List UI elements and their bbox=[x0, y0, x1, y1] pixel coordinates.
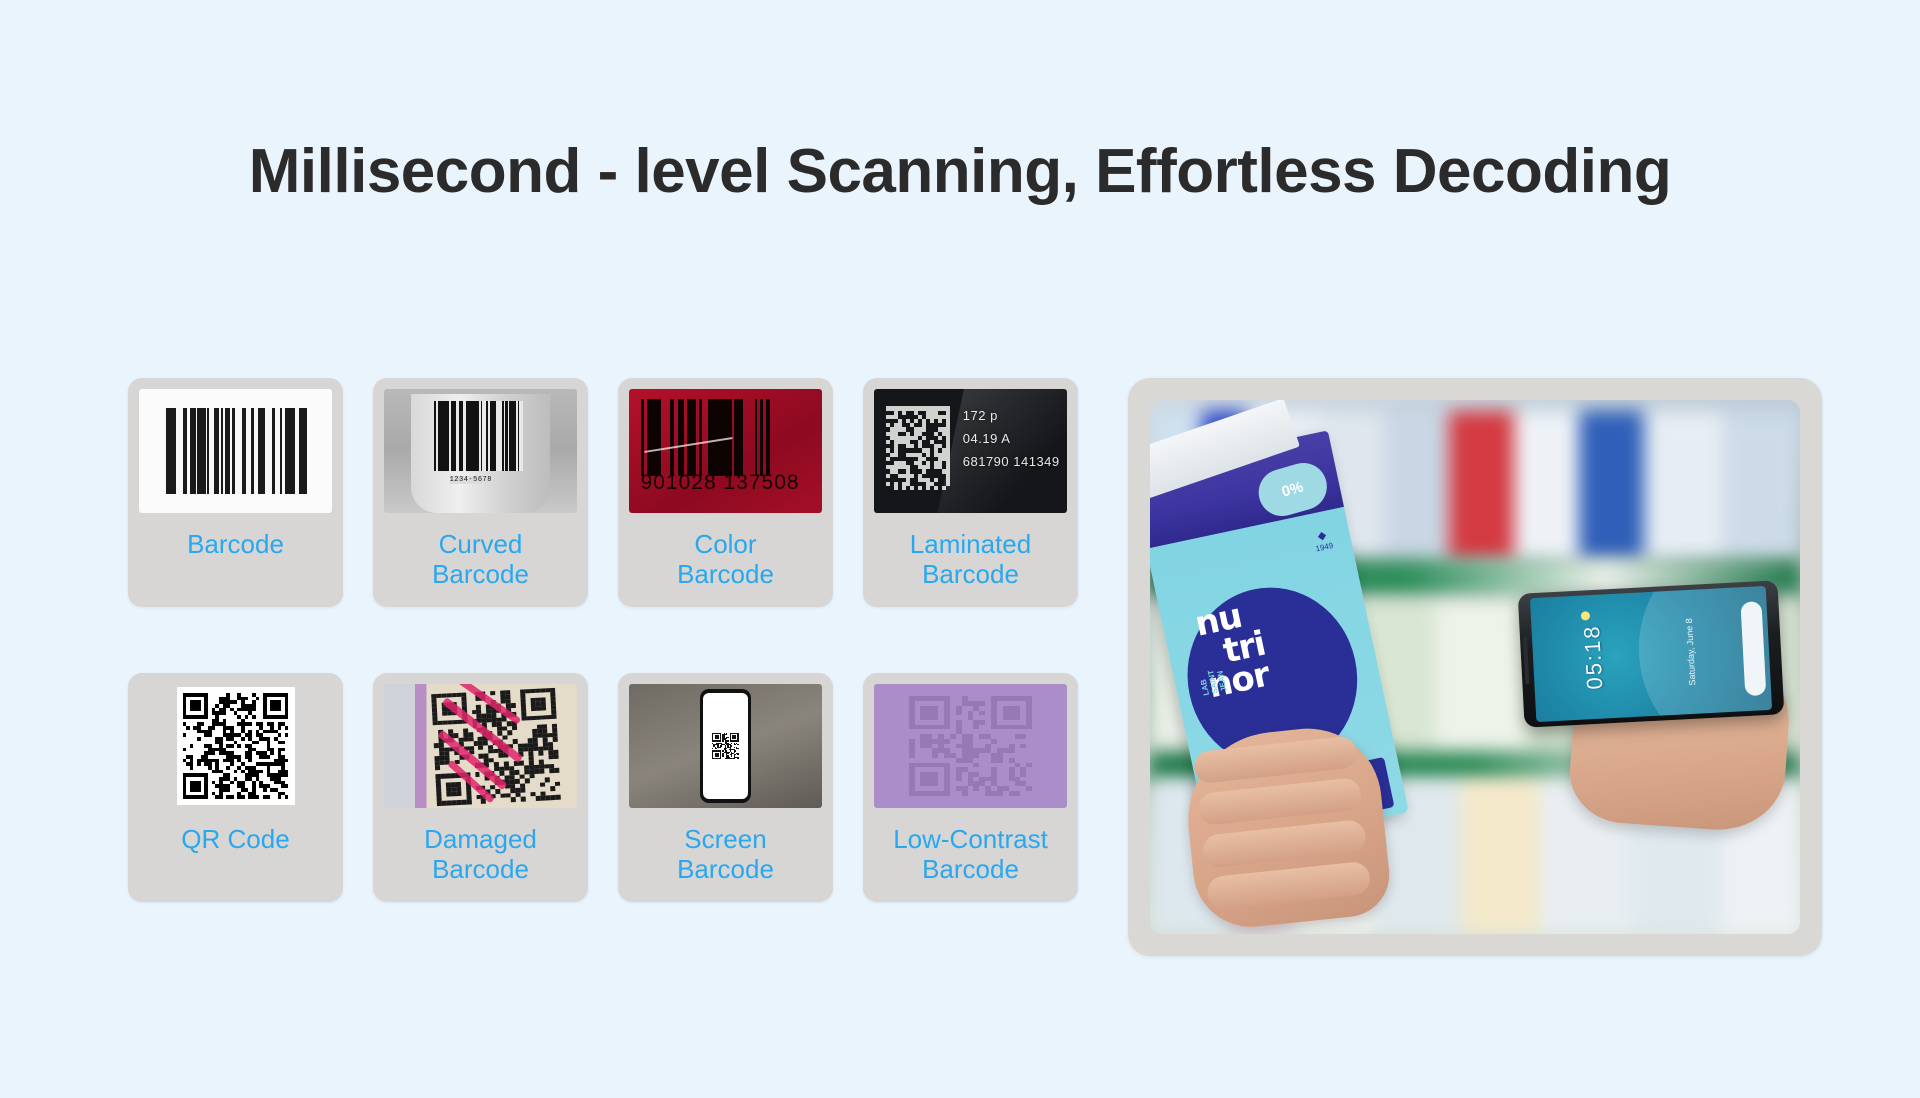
curved-barcode-number: 1234-5678 bbox=[450, 476, 492, 484]
damaged-qr-icon bbox=[384, 684, 577, 808]
color-barcode-number: 901028 137508 bbox=[641, 471, 815, 495]
phone-clock: 05:18 bbox=[1579, 623, 1608, 689]
card-curved-barcode[interactable]: 1234-5678 Curved Barcode bbox=[373, 378, 588, 607]
grid-row-1: Barcode 1234-5678 Curved Barcode 901028 … bbox=[128, 378, 1088, 607]
barcode-icon bbox=[139, 389, 332, 513]
card-qr-code[interactable]: QR Code bbox=[128, 673, 343, 902]
phone-search-bar bbox=[1740, 601, 1766, 696]
scanning-phone: 05:18 Saturday, June 8 bbox=[1517, 580, 1784, 727]
qr-code-icon bbox=[139, 684, 332, 808]
card-label: Color Barcode bbox=[673, 513, 778, 607]
card-barcode[interactable]: Barcode bbox=[128, 378, 343, 607]
card-label: Barcode bbox=[183, 513, 288, 605]
slide-root: Millisecond - level Scanning, Effortless… bbox=[0, 0, 1920, 1098]
card-label: Curved Barcode bbox=[428, 513, 533, 607]
scanning-demo-panel: 0% nu tri nor LAB SAINT JEAN ◆1949 DIQUE bbox=[1128, 378, 1822, 956]
card-label: QR Code bbox=[177, 808, 293, 900]
card-screen-barcode[interactable]: Screen Barcode bbox=[618, 673, 833, 902]
fleur-de-lis-icon: ◆1949 bbox=[1312, 529, 1334, 554]
curved-barcode-icon: 1234-5678 bbox=[384, 389, 577, 513]
barcode-type-grid: Barcode 1234-5678 Curved Barcode 901028 … bbox=[128, 378, 1088, 902]
card-low-contrast-barcode[interactable]: Low-Contrast Barcode bbox=[863, 673, 1078, 902]
card-color-barcode[interactable]: 901028 137508 Color Barcode bbox=[618, 378, 833, 607]
card-laminated-barcode[interactable]: 172 p 04.19 A 681790 141349 Laminated Ba… bbox=[863, 378, 1078, 607]
card-label: Damaged Barcode bbox=[420, 808, 541, 902]
left-hand bbox=[1179, 721, 1393, 933]
phone-screen-qr-icon bbox=[629, 684, 822, 808]
page-title: Millisecond - level Scanning, Effortless… bbox=[0, 136, 1920, 207]
phone-speaker bbox=[1522, 636, 1529, 684]
scanning-demo-photo: 0% nu tri nor LAB SAINT JEAN ◆1949 DIQUE bbox=[1150, 400, 1800, 934]
card-damaged-barcode[interactable]: Damaged Barcode bbox=[373, 673, 588, 902]
card-label: Screen Barcode bbox=[673, 808, 778, 902]
phone-screen: 05:18 Saturday, June 8 bbox=[1529, 586, 1771, 722]
color-barcode-icon: 901028 137508 bbox=[629, 389, 822, 513]
carton-sub-text: LAB SAINT JEAN bbox=[1197, 667, 1228, 696]
status-dot-icon bbox=[1580, 611, 1589, 620]
grid-row-2: QR Code Damaged Barcode Scre bbox=[128, 673, 1088, 902]
low-contrast-qr-icon bbox=[874, 684, 1067, 808]
laminated-barcode-icon: 172 p 04.19 A 681790 141349 bbox=[874, 389, 1067, 513]
card-label: Laminated Barcode bbox=[906, 513, 1035, 607]
card-label: Low-Contrast Barcode bbox=[889, 808, 1052, 902]
